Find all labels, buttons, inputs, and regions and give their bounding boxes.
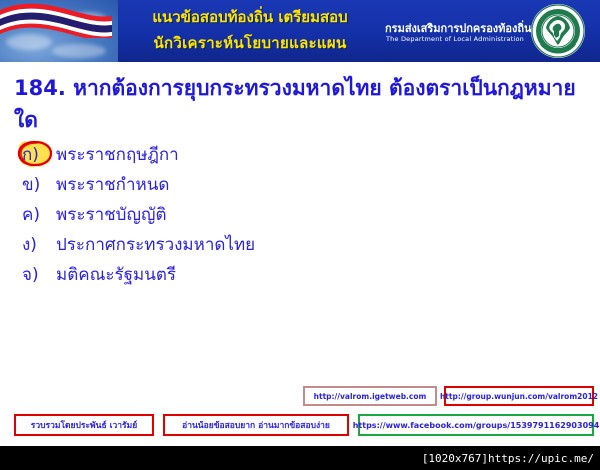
slogan-box: อ่านน้อยข้อสอบยาก อ่านมากข้อสอบง่าย bbox=[163, 414, 349, 436]
page-header: แนวข้อสอบท้องถิ่น เตรียมสอบ นักวิเคราะห์… bbox=[0, 0, 600, 62]
link-facebook-group[interactable]: https://www.facebook.com/groups/15397911… bbox=[358, 414, 594, 436]
slide-screenshot: แนวข้อสอบท้องถิ่น เตรียมสอบ นักวิเคราะห์… bbox=[0, 0, 600, 470]
header-title-line1: แนวข้อสอบท้องถิ่น เตรียมสอบ bbox=[120, 4, 380, 30]
choice-option-2[interactable]: ข)พระราชกำหนด bbox=[22, 170, 422, 200]
choice-option-3[interactable]: ค)พระราชบัญญัติ bbox=[22, 200, 422, 230]
link-group-wunjun[interactable]: http://group.wunjun.com/valrom2012 bbox=[444, 386, 594, 406]
status-bar-text: [1020x767]https://upic.me/ bbox=[422, 452, 594, 465]
choice-option-4[interactable]: ง)ประกาศกระทรวงมหาดไทย bbox=[22, 230, 422, 260]
department-block: กรมส่งเสริมการปกครองท้องถิ่น The Departm… bbox=[385, 22, 525, 44]
choice-label-2: พระราชกำหนด bbox=[56, 175, 169, 195]
thai-flag-icon bbox=[0, 2, 112, 38]
choice-label-3: พระราชบัญญัติ bbox=[56, 205, 166, 225]
choice-key-1: ก) bbox=[22, 140, 56, 170]
status-bar: [1020x767]https://upic.me/ bbox=[0, 446, 600, 470]
choice-label-4: ประกาศกระทรวงมหาดไทย bbox=[56, 235, 255, 255]
header-title: แนวข้อสอบท้องถิ่น เตรียมสอบ นักวิเคราะห์… bbox=[120, 4, 380, 56]
government-seal-icon bbox=[530, 3, 586, 59]
choices-list: ก)พระราชกฤษฎีกา ข)พระราชกำหนด ค)พระราชบั… bbox=[22, 140, 422, 290]
choice-option-1[interactable]: ก)พระราชกฤษฎีกา bbox=[22, 140, 422, 170]
choice-label-1: พระราชกฤษฎีกา bbox=[56, 145, 179, 165]
author-credit-box: รวบรวมโดยประพันธ์ เวารัมย์ bbox=[14, 414, 154, 436]
choice-key-4: ง) bbox=[22, 230, 56, 260]
choice-label-5: มติคณะรัฐมนตรี bbox=[56, 265, 176, 285]
link-valrom-igetweb[interactable]: http://valrom.igetweb.com bbox=[303, 386, 437, 406]
choice-key-3: ค) bbox=[22, 200, 56, 230]
department-name-english: The Department of Local Administration bbox=[385, 35, 525, 44]
department-name-thai: กรมส่งเสริมการปกครองท้องถิ่น bbox=[385, 22, 525, 35]
choice-key-5: จ) bbox=[22, 260, 56, 290]
header-title-line2: นักวิเคราะห์นโยบายและแผน bbox=[120, 30, 380, 56]
question-text: 184. หากต้องการยุบกระทรวงมหาดไทย ต้องตรา… bbox=[14, 72, 589, 136]
choice-option-5[interactable]: จ)มติคณะรัฐมนตรี bbox=[22, 260, 422, 290]
choice-key-2: ข) bbox=[22, 170, 56, 200]
